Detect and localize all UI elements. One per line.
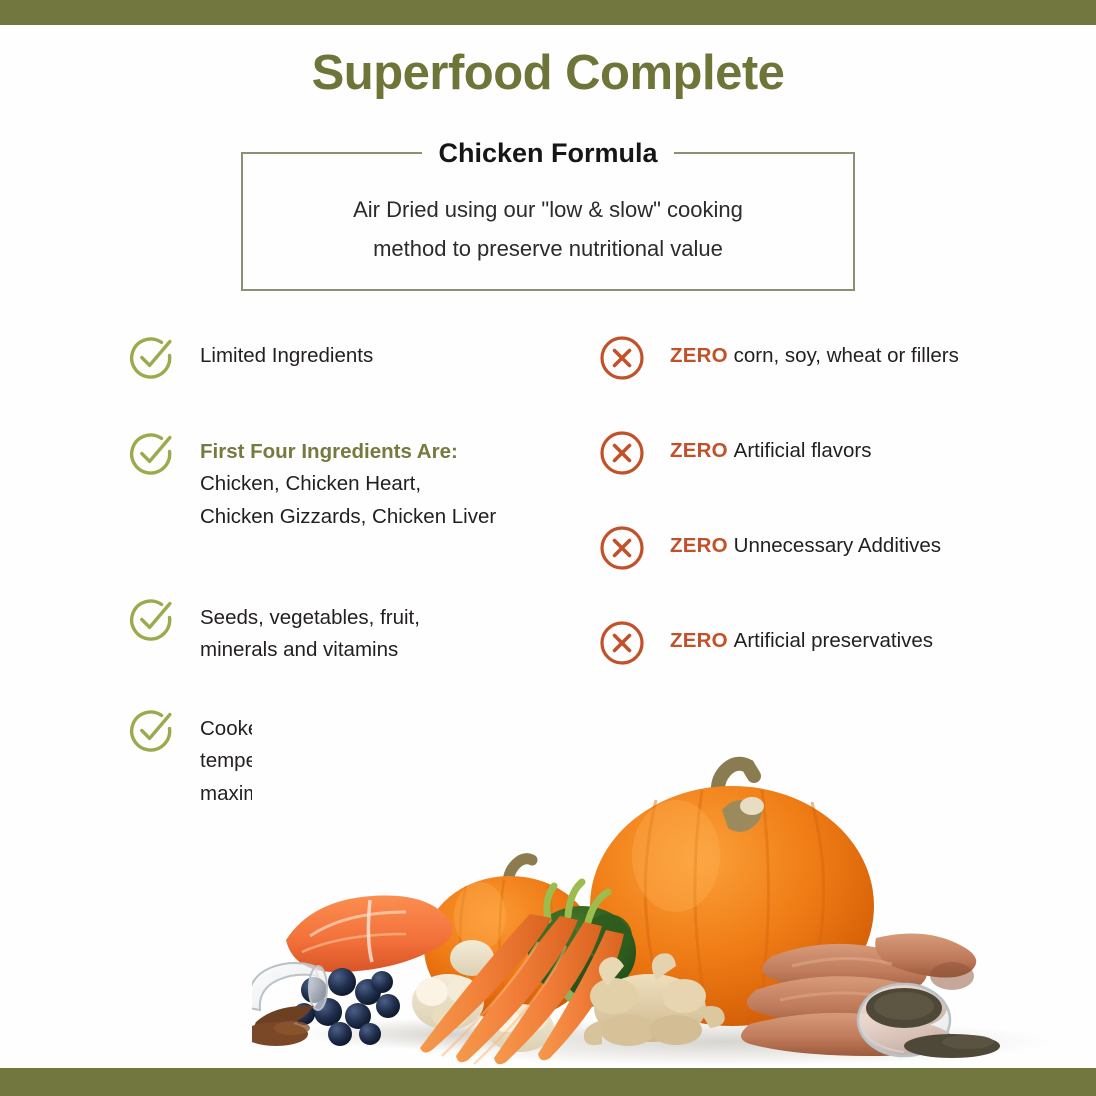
benefit-item: First Four Ingredients Are: Chicken, Chi…: [128, 430, 496, 533]
benefit-line: minerals and vitamins: [200, 634, 420, 666]
benefit-text: Limited Ingredients: [200, 334, 373, 372]
benefit-line: Chicken Gizzards, Chicken Liver: [200, 501, 496, 533]
bottom-accent-bar: [0, 1068, 1096, 1096]
x-circle-icon: [598, 619, 646, 667]
check-circle-icon: [128, 707, 176, 755]
page-title: Superfood Complete: [0, 48, 1096, 99]
check-circle-icon: [128, 334, 176, 382]
x-circle-icon: [598, 524, 646, 572]
x-circle-icon: [598, 334, 646, 382]
zero-badge: ZERO: [670, 534, 734, 557]
benefit-line-heading: First Four Ingredients Are:: [200, 436, 496, 468]
superfood-produce-photo: [252, 690, 1096, 1068]
formula-description: Air Dried using our "low & slow" cooking…: [241, 190, 855, 268]
exclusion-label: Artificial flavors: [734, 439, 872, 462]
top-accent-bar: [0, 0, 1096, 25]
exclusion-text: ZERO corn, soy, wheat or fillers: [670, 334, 959, 372]
exclusion-item: ZERO Artificial preservatives: [598, 619, 933, 657]
exclusion-text: ZERO Artificial preservatives: [670, 619, 933, 657]
exclusion-label: Artificial preservatives: [734, 629, 933, 652]
benefit-item: Seeds, vegetables, fruit, minerals and v…: [128, 596, 420, 667]
formula-description-line-1: Air Dried using our "low & slow" cooking: [241, 190, 855, 229]
exclusion-item: ZERO Unnecessary Additives: [598, 524, 941, 562]
benefit-line: Chicken, Chicken Heart,: [200, 468, 496, 500]
formula-description-line-2: method to preserve nutritional value: [241, 229, 855, 268]
benefit-item: Limited Ingredients: [128, 334, 373, 372]
exclusion-item: ZERO Artificial flavors: [598, 429, 872, 467]
check-circle-icon: [128, 596, 176, 644]
benefit-text: First Four Ingredients Are: Chicken, Chi…: [200, 430, 496, 533]
x-circle-icon: [598, 429, 646, 477]
exclusion-text: ZERO Unnecessary Additives: [670, 524, 941, 562]
benefit-line: Seeds, vegetables, fruit,: [200, 602, 420, 634]
zero-badge: ZERO: [670, 629, 734, 652]
exclusion-item: ZERO corn, soy, wheat or fillers: [598, 334, 959, 372]
exclusion-label: Unnecessary Additives: [734, 534, 941, 557]
check-circle-icon: [128, 430, 176, 478]
infographic-page: Superfood Complete Chicken Formula Air D…: [0, 0, 1096, 1096]
zero-badge: ZERO: [670, 439, 734, 462]
exclusion-label: corn, soy, wheat or fillers: [734, 344, 959, 367]
zero-badge: ZERO: [670, 344, 734, 367]
benefit-line: Limited Ingredients: [200, 340, 373, 372]
exclusion-text: ZERO Artificial flavors: [670, 429, 872, 467]
benefit-text: Seeds, vegetables, fruit, minerals and v…: [200, 596, 420, 667]
